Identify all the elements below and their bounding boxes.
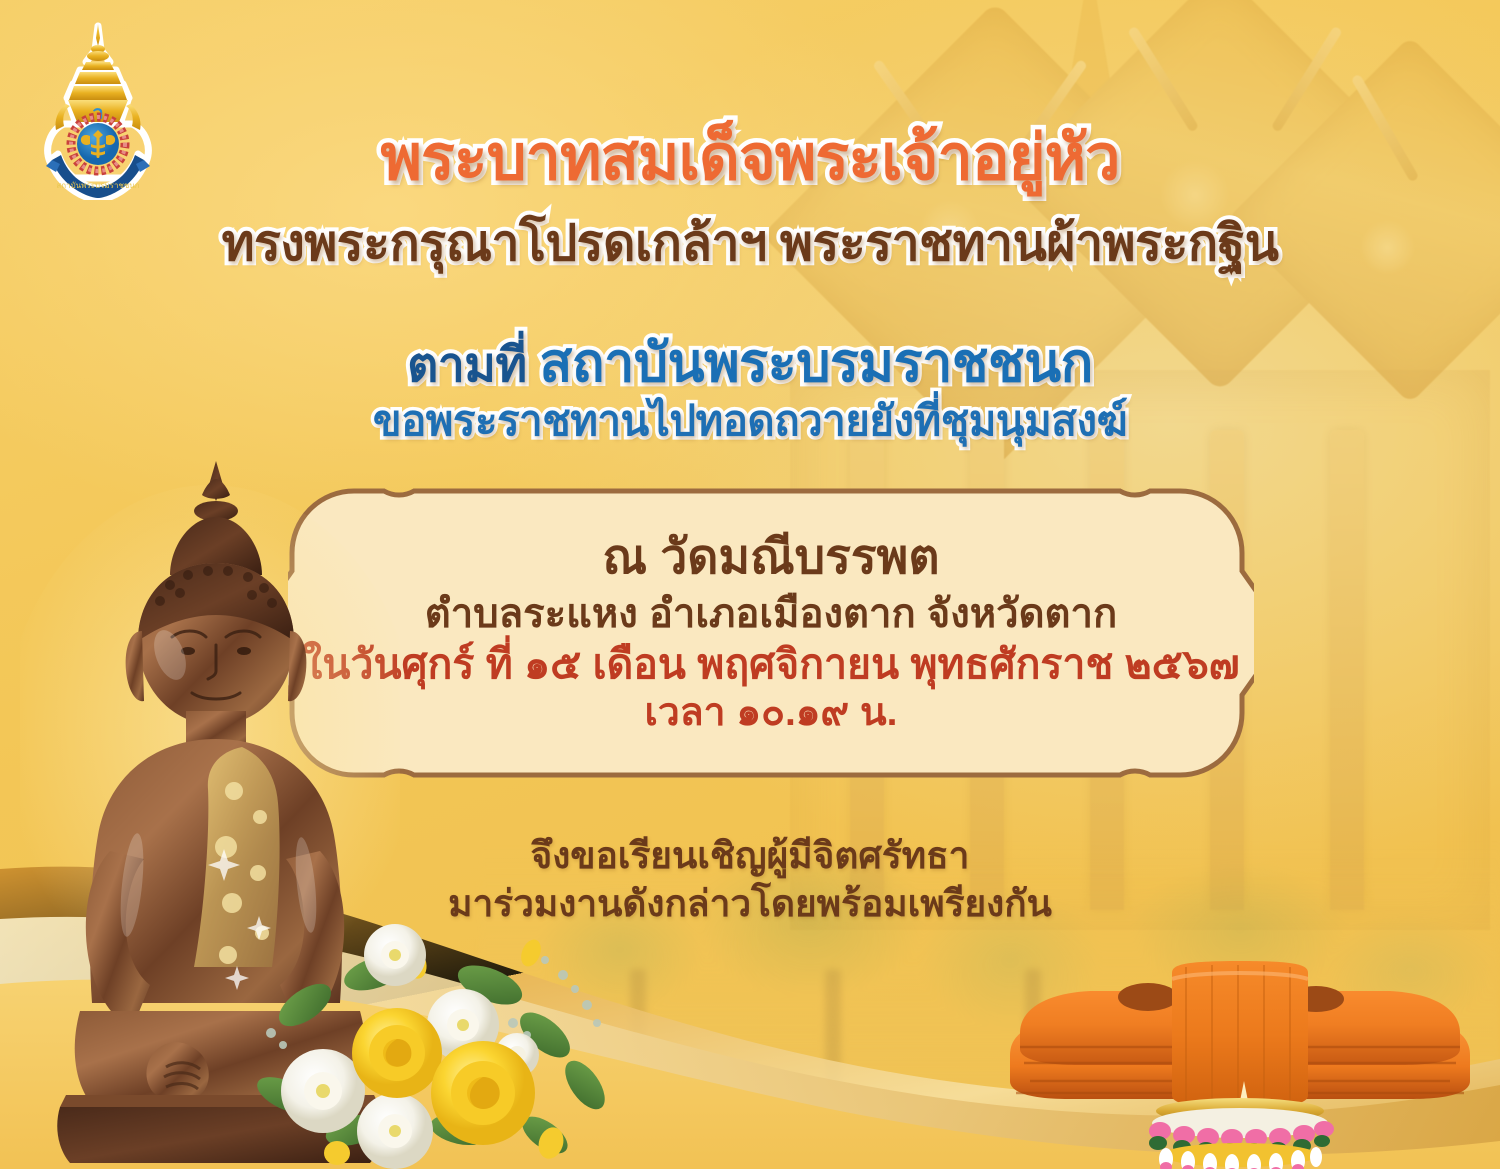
- emblem-ribbon-text: สถาบันพระบรมราชชนก: [56, 181, 139, 190]
- venue-card: ณ วัดมณีบรรพต ตำบลระแหง อำเภอเมืองตาก จั…: [288, 487, 1254, 779]
- venue-time: เวลา ๑๐.๑๙ น.: [645, 690, 898, 736]
- venue-date: ในวันศุกร์ ที่ ๑๕ เดือน พฤศจิกายน พุทธศั…: [302, 640, 1239, 688]
- venue-address: ตำบลระแหง อำเภอเมืองตาก จังหวัดตาก: [425, 591, 1117, 638]
- monk-robes-offering-image: [980, 935, 1500, 1169]
- kathin-announcement-poster: ว สถาบันพระบรมราชชนก พระบาทสมเด็จพระเจ้า…: [0, 0, 1500, 1169]
- flower-bouquet-image: [245, 915, 625, 1169]
- venue-temple-name: ณ วัดมณีบรรพต: [602, 530, 939, 587]
- institute-emblem-icon: ว สถาบันพระบรมราชชนก: [28, 20, 168, 200]
